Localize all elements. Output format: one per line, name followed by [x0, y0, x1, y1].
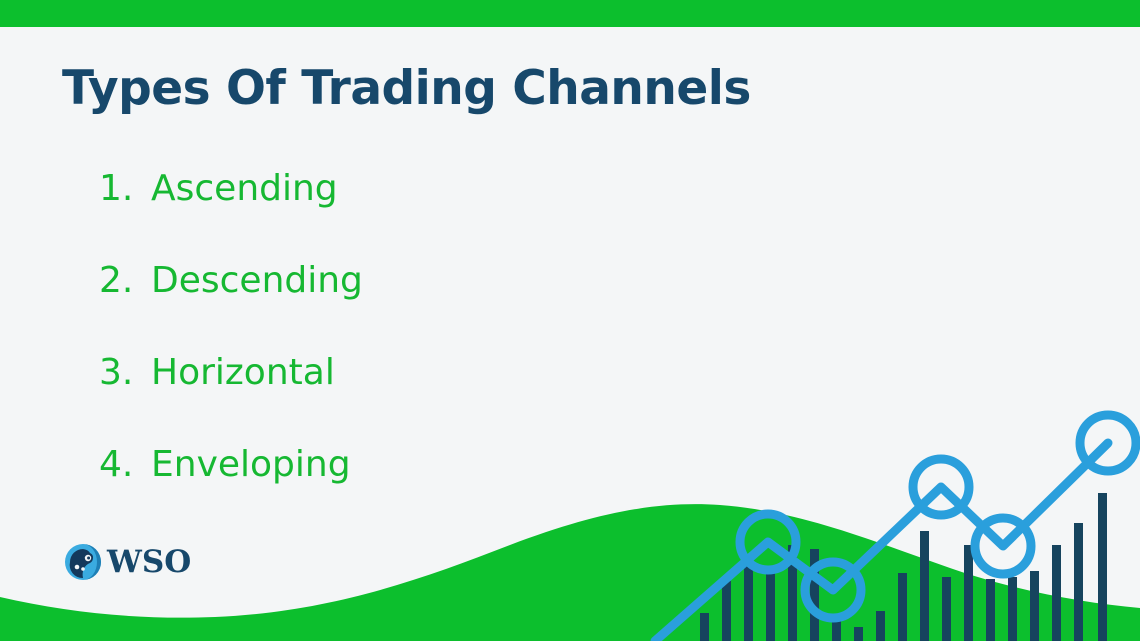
bar [986, 579, 995, 641]
bar [964, 545, 973, 641]
list-item-number: 2. [99, 260, 151, 301]
list-item-label: Ascending [151, 168, 338, 209]
trading-channel-types-list: 1. Ascending 2. Descending 3. Horizontal… [99, 168, 619, 536]
page-title: Types Of Trading Channels [62, 61, 751, 116]
bar [1030, 571, 1039, 641]
list-item-number: 1. [99, 168, 151, 209]
list-item-label: Enveloping [151, 444, 351, 485]
bar [1074, 523, 1083, 641]
list-item-label: Horizontal [151, 352, 335, 393]
list-item-number: 3. [99, 352, 151, 393]
bar [898, 573, 907, 641]
bar [876, 611, 885, 641]
wso-monkey-globe-icon [64, 543, 102, 581]
wso-logo: WSO [64, 541, 191, 583]
bar [1052, 545, 1061, 641]
bar [1008, 577, 1017, 641]
list-item-number: 4. [99, 444, 151, 485]
list-item: 2. Descending [99, 260, 619, 352]
bar [700, 613, 709, 641]
bar [942, 577, 951, 641]
bar [854, 627, 863, 641]
list-item: 3. Horizontal [99, 352, 619, 444]
list-item: 4. Enveloping [99, 444, 619, 536]
bar [766, 567, 775, 641]
bar [1098, 493, 1107, 641]
list-item-label: Descending [151, 260, 363, 301]
bar [920, 531, 929, 641]
wso-wordmark: WSO [107, 547, 191, 578]
bar [722, 581, 731, 641]
slide-canvas: Types Of Trading Channels 1. Ascending 2… [0, 0, 1140, 641]
list-item: 1. Ascending [99, 168, 619, 260]
